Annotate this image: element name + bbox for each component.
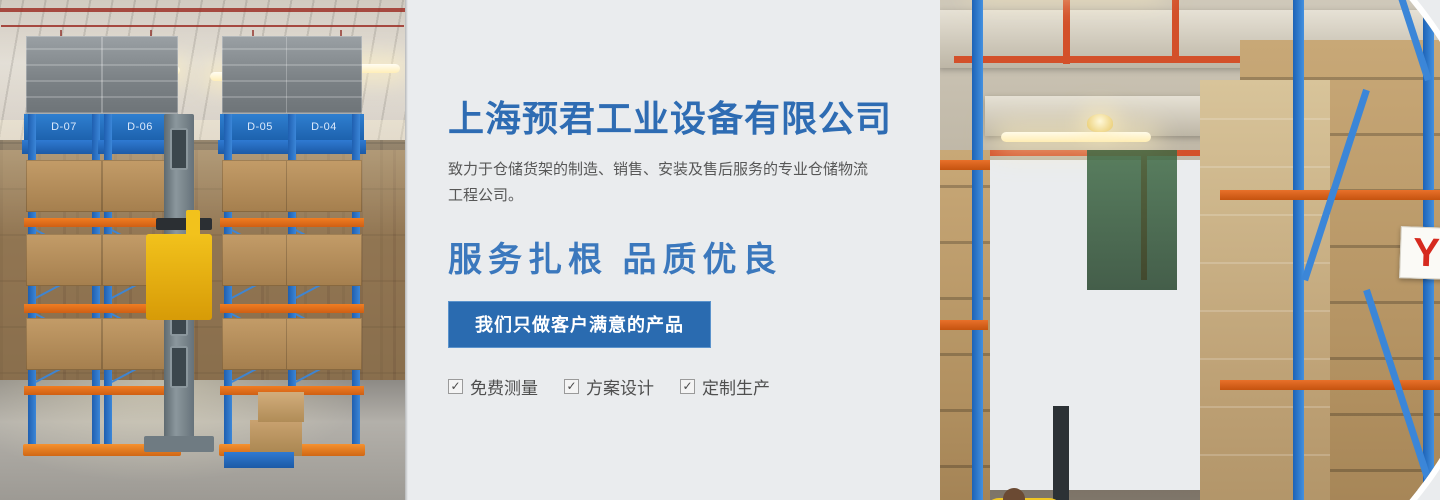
sprinkler-riser	[1063, 0, 1070, 64]
crane-arm	[156, 218, 212, 230]
banner-text-panel: 上海预君工业设备有限公司 致力于仓储货架的制造、销售、安装及售后服务的专业仓储物…	[448, 96, 918, 399]
forklift	[975, 406, 1095, 500]
company-slogan: 服务扎根 品质优良	[448, 232, 918, 281]
forklift-operator	[997, 488, 1031, 500]
rack-column: D-07	[28, 114, 100, 444]
rack-beam	[940, 320, 988, 330]
rack-foot	[23, 444, 105, 456]
crane-cab	[146, 234, 212, 320]
feature-item-scheme-design: ✓ 方案设计	[564, 374, 654, 399]
rack-beam	[940, 160, 990, 170]
company-title: 上海预君工业设备有限公司	[448, 96, 918, 141]
crane-base	[144, 436, 214, 452]
pallet-load	[286, 36, 362, 114]
forklift-mast	[1053, 406, 1069, 500]
rack-beam	[24, 386, 104, 395]
rack-beam	[24, 218, 104, 227]
circular-photo-mask: Foxconn Foxconn Foxconn Foxconn	[940, 0, 1440, 500]
carton	[286, 234, 362, 286]
feature-item-custom-production: ✓ 定制生产	[680, 374, 770, 399]
floor-carton	[250, 420, 302, 456]
operator-head	[1003, 488, 1025, 500]
rack-beam	[284, 218, 364, 227]
far-wall	[1087, 150, 1177, 290]
photo-panel-seam	[405, 0, 408, 500]
hero-banner: D-07 D-06	[0, 0, 1440, 500]
carton	[286, 160, 362, 212]
photo-right-scene: Foxconn Foxconn Foxconn Foxconn	[940, 0, 1440, 500]
check-box-icon: ✓	[564, 379, 579, 394]
feature-label: 免费测量	[470, 374, 538, 399]
high-bay-light	[1087, 114, 1113, 132]
aisle-label-sign-right: Y3	[1399, 226, 1440, 282]
feature-item-free-measurement: ✓ 免费测量	[448, 374, 538, 399]
feature-list: ✓ 免费测量 ✓ 方案设计 ✓ 定制生产	[448, 374, 918, 399]
blue-pallet	[224, 452, 294, 468]
crane-window	[170, 346, 188, 388]
check-box-icon: ✓	[680, 379, 695, 394]
photo-left-scene: D-07 D-06	[0, 0, 405, 500]
company-subtitle: 致力于仓储货架的制造、销售、安装及售后服务的专业仓储物流工程公司。	[448, 157, 868, 210]
crane-window	[170, 128, 188, 170]
rack-beam	[1220, 380, 1440, 390]
sprinkler-riser	[1172, 0, 1179, 60]
carton	[26, 318, 102, 370]
pallet-load	[102, 36, 178, 114]
floor-carton	[258, 392, 304, 422]
rack-beam	[24, 304, 104, 313]
ceiling-lamp	[1001, 132, 1151, 142]
pallet-load	[26, 36, 102, 114]
cta-button[interactable]: 我们只做客户满意的产品	[448, 301, 711, 348]
feature-label: 方案设计	[586, 374, 654, 399]
carton	[26, 234, 102, 286]
carton	[286, 318, 362, 370]
warehouse-photo-right: Foxconn Foxconn Foxconn Foxconn	[940, 0, 1440, 500]
rack-beam	[284, 304, 364, 313]
carton	[26, 160, 102, 212]
warehouse-photo-left: D-07 D-06	[0, 0, 405, 500]
stacker-crane	[150, 114, 208, 444]
rack-upright	[1293, 0, 1304, 500]
feature-label: 定制生产	[702, 374, 770, 399]
check-box-icon: ✓	[448, 379, 463, 394]
pallet-stack	[1200, 80, 1330, 500]
